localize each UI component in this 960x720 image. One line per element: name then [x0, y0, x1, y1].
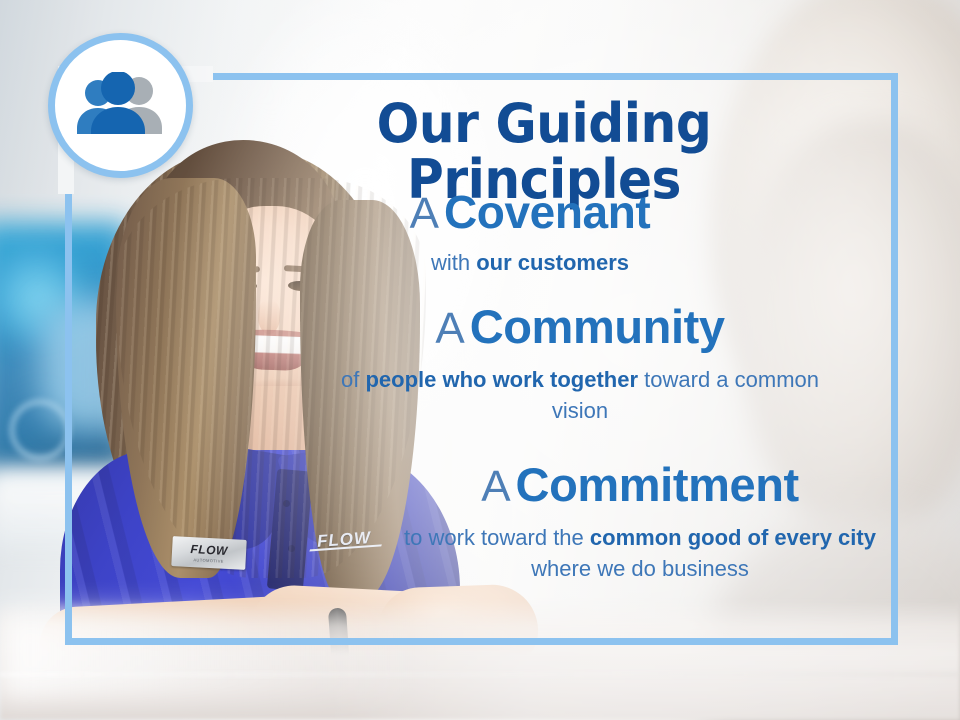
principle-covenant-article: A [410, 189, 440, 238]
principle-community-heading: A Community [330, 302, 830, 352]
photo-car-badge [10, 400, 70, 460]
photo-desk-highlight [0, 610, 420, 700]
name-badge-brand: FLOW [190, 543, 228, 557]
principle-community-subtitle: of people who work together toward a com… [330, 364, 830, 426]
principle-covenant-word: Covenant [444, 186, 650, 238]
principle-commitment-article: A [481, 462, 511, 511]
principle-community-article: A [435, 304, 465, 353]
name-badge-subtext: AUTOMOTIVE [193, 557, 224, 564]
people-group-icon [73, 72, 169, 140]
principle-covenant-subtitle: with our customers [300, 247, 760, 278]
principle-commitment-heading: A Commitment [400, 460, 880, 510]
principle-commitment-subtitle: to work toward the common good of every … [400, 522, 880, 584]
principle-commitment: A Commitment to work toward the common g… [400, 460, 880, 585]
photo-employee-name-badge: FLOW AUTOMOTIVE [171, 536, 246, 570]
principle-commitment-word: Commitment [516, 458, 799, 511]
guiding-principles-graphic: FLOW AUTOMOTIVE FLOW [0, 0, 960, 720]
principle-covenant: A Covenant with our customers [300, 188, 760, 278]
people-badge [48, 33, 193, 178]
photo-desk-edge [0, 673, 960, 676]
principle-community-word: Community [470, 300, 725, 353]
principle-community: A Community of people who work together … [330, 302, 830, 427]
principle-covenant-heading: A Covenant [300, 188, 760, 237]
